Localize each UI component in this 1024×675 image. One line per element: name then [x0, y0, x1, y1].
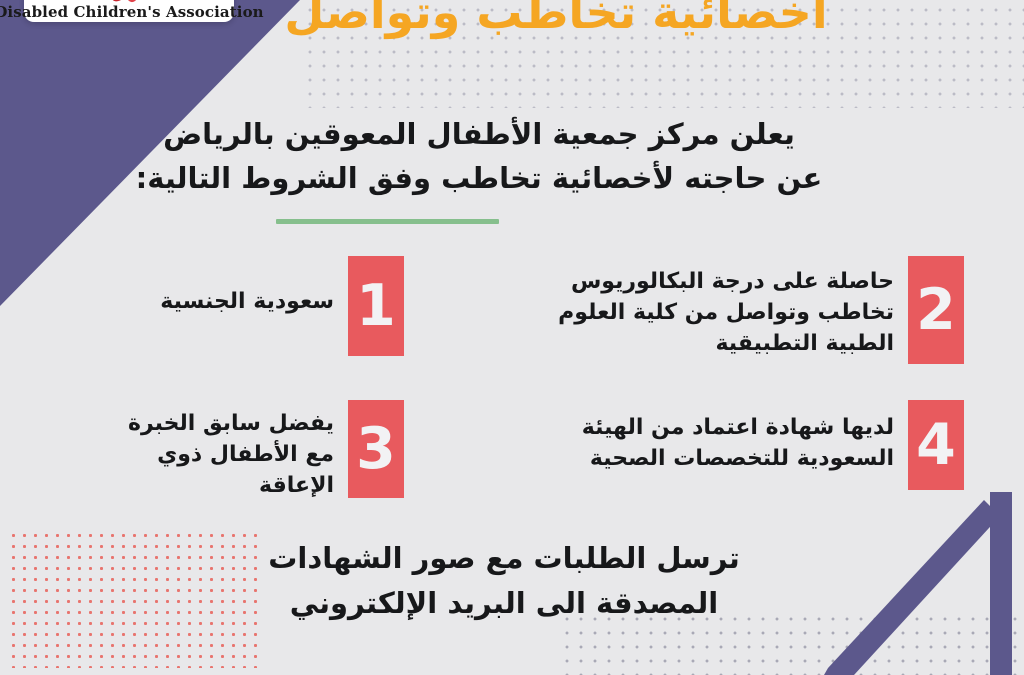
condition-item: 1 سعودية الجنسية — [114, 256, 404, 356]
conditions-list: 1 سعودية الجنسية 2 حاصلة على درجة البكال… — [0, 248, 1024, 518]
footer-line-1: ترسل الطلبات مع صور الشهادات — [224, 536, 784, 581]
poster-canvas: Disabled Children's Association أخصائية … — [0, 0, 1024, 675]
intro-line-2: عن حاجته لأخصائية تخاطب وفق الشروط التال… — [84, 156, 874, 200]
condition-text: يفضل سابق الخبرة مع الأطفال ذوي الإعاقة — [114, 400, 348, 502]
condition-number-badge: 3 — [348, 400, 404, 498]
footer-instructions: ترسل الطلبات مع صور الشهادات المصدقة الى… — [224, 536, 784, 626]
condition-item: 4 لديها شهادة اعتماد من الهيئة السعودية … — [524, 400, 964, 490]
condition-text: حاصلة على درجة البكالوريوس تخاطب وتواصل … — [524, 256, 908, 360]
condition-text: لديها شهادة اعتماد من الهيئة السعودية لل… — [524, 400, 908, 474]
condition-number-badge: 2 — [908, 256, 964, 364]
condition-item: 3 يفضل سابق الخبرة مع الأطفال ذوي الإعاق… — [114, 400, 404, 502]
intro-line-1: يعلن مركز جمعية الأطفال المعوقين بالرياض — [84, 112, 874, 156]
footer-line-2: المصدقة الى البريد الإلكتروني — [224, 581, 784, 626]
condition-number-badge: 1 — [348, 256, 404, 356]
condition-text: سعودية الجنسية — [114, 256, 348, 317]
condition-number-badge: 4 — [908, 400, 964, 490]
green-underline-rule — [276, 219, 499, 224]
condition-item: 2 حاصلة على درجة البكالوريوس تخاطب وتواص… — [524, 256, 964, 364]
intro-paragraph: يعلن مركز جمعية الأطفال المعوقين بالرياض… — [84, 112, 874, 200]
page-title: أخصائية تخاطب وتواصل — [106, 0, 1006, 36]
